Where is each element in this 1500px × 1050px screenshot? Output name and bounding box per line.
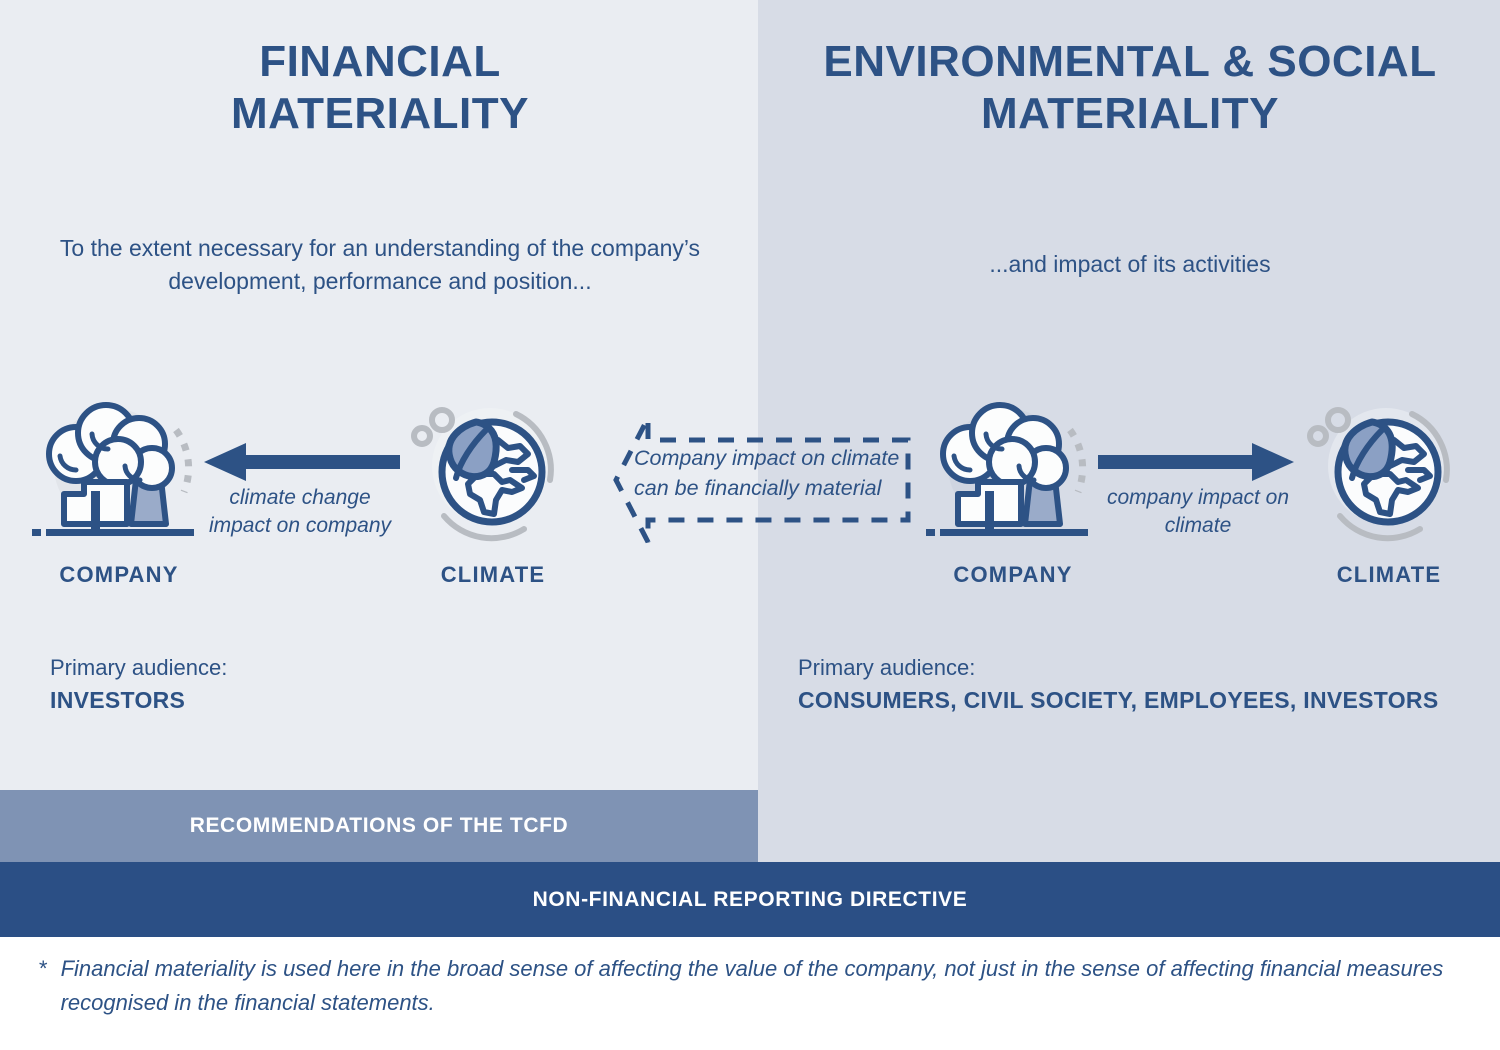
globe-leaf-icon bbox=[398, 388, 588, 556]
callout-box: Company impact on climate can be financi… bbox=[612, 414, 912, 546]
left-arrow-label: climate change impact on company bbox=[200, 484, 400, 539]
left-audience-label: Primary audience: bbox=[50, 652, 227, 684]
right-audience-value: CONSUMERS, CIVIL SOCIETY, EMPLOYEES, INV… bbox=[798, 684, 1438, 717]
right-audience-label: Primary audience: bbox=[798, 652, 1438, 684]
left-climate-caption: CLIMATE bbox=[398, 562, 588, 588]
left-company-caption: COMPANY bbox=[24, 562, 214, 588]
right-company-caption: COMPANY bbox=[918, 562, 1108, 588]
factory-smokestack-icon bbox=[24, 396, 214, 556]
left-panel-subtext: To the extent necessary for an understan… bbox=[50, 232, 710, 299]
right-company-icon-block: COMPANY bbox=[918, 396, 1108, 588]
tcfd-bar-label: RECOMMENDATIONS OF THE TCFD bbox=[190, 814, 569, 838]
nfrd-bar-label: NON-FINANCIAL REPORTING DIRECTIVE bbox=[533, 888, 968, 912]
left-audience-value: INVESTORS bbox=[50, 684, 227, 717]
left-panel-heading: FINANCIAL MATERIALITY bbox=[110, 36, 650, 140]
tcfd-bar: RECOMMENDATIONS OF THE TCFD bbox=[0, 790, 758, 862]
left-climate-icon-block: CLIMATE bbox=[398, 388, 588, 588]
right-climate-icon-block: CLIMATE bbox=[1294, 388, 1484, 588]
right-panel-heading: ENVIRONMENTAL & SOCIAL MATERIALITY bbox=[790, 36, 1470, 140]
right-panel-subtext: ...and impact of its activities bbox=[820, 248, 1440, 281]
left-primary-audience: Primary audience: INVESTORS bbox=[50, 652, 227, 717]
right-climate-caption: CLIMATE bbox=[1294, 562, 1484, 588]
right-arrow-label: company impact on climate bbox=[1098, 484, 1298, 539]
right-primary-audience: Primary audience: CONSUMERS, CIVIL SOCIE… bbox=[798, 652, 1438, 717]
callout-text: Company impact on climate can be financi… bbox=[634, 444, 912, 503]
footnote-marker: * bbox=[38, 952, 47, 1020]
footnote-text: Financial materiality is used here in th… bbox=[61, 952, 1458, 1020]
infographic-canvas: FINANCIAL MATERIALITY ENVIRONMENTAL & SO… bbox=[0, 0, 1500, 1050]
factory-smokestack-icon bbox=[918, 396, 1108, 556]
globe-leaf-icon bbox=[1294, 388, 1484, 556]
nfrd-bar: NON-FINANCIAL REPORTING DIRECTIVE bbox=[0, 862, 1500, 937]
left-company-icon-block: COMPANY bbox=[24, 396, 214, 588]
footnote: * Financial materiality is used here in … bbox=[38, 952, 1458, 1020]
